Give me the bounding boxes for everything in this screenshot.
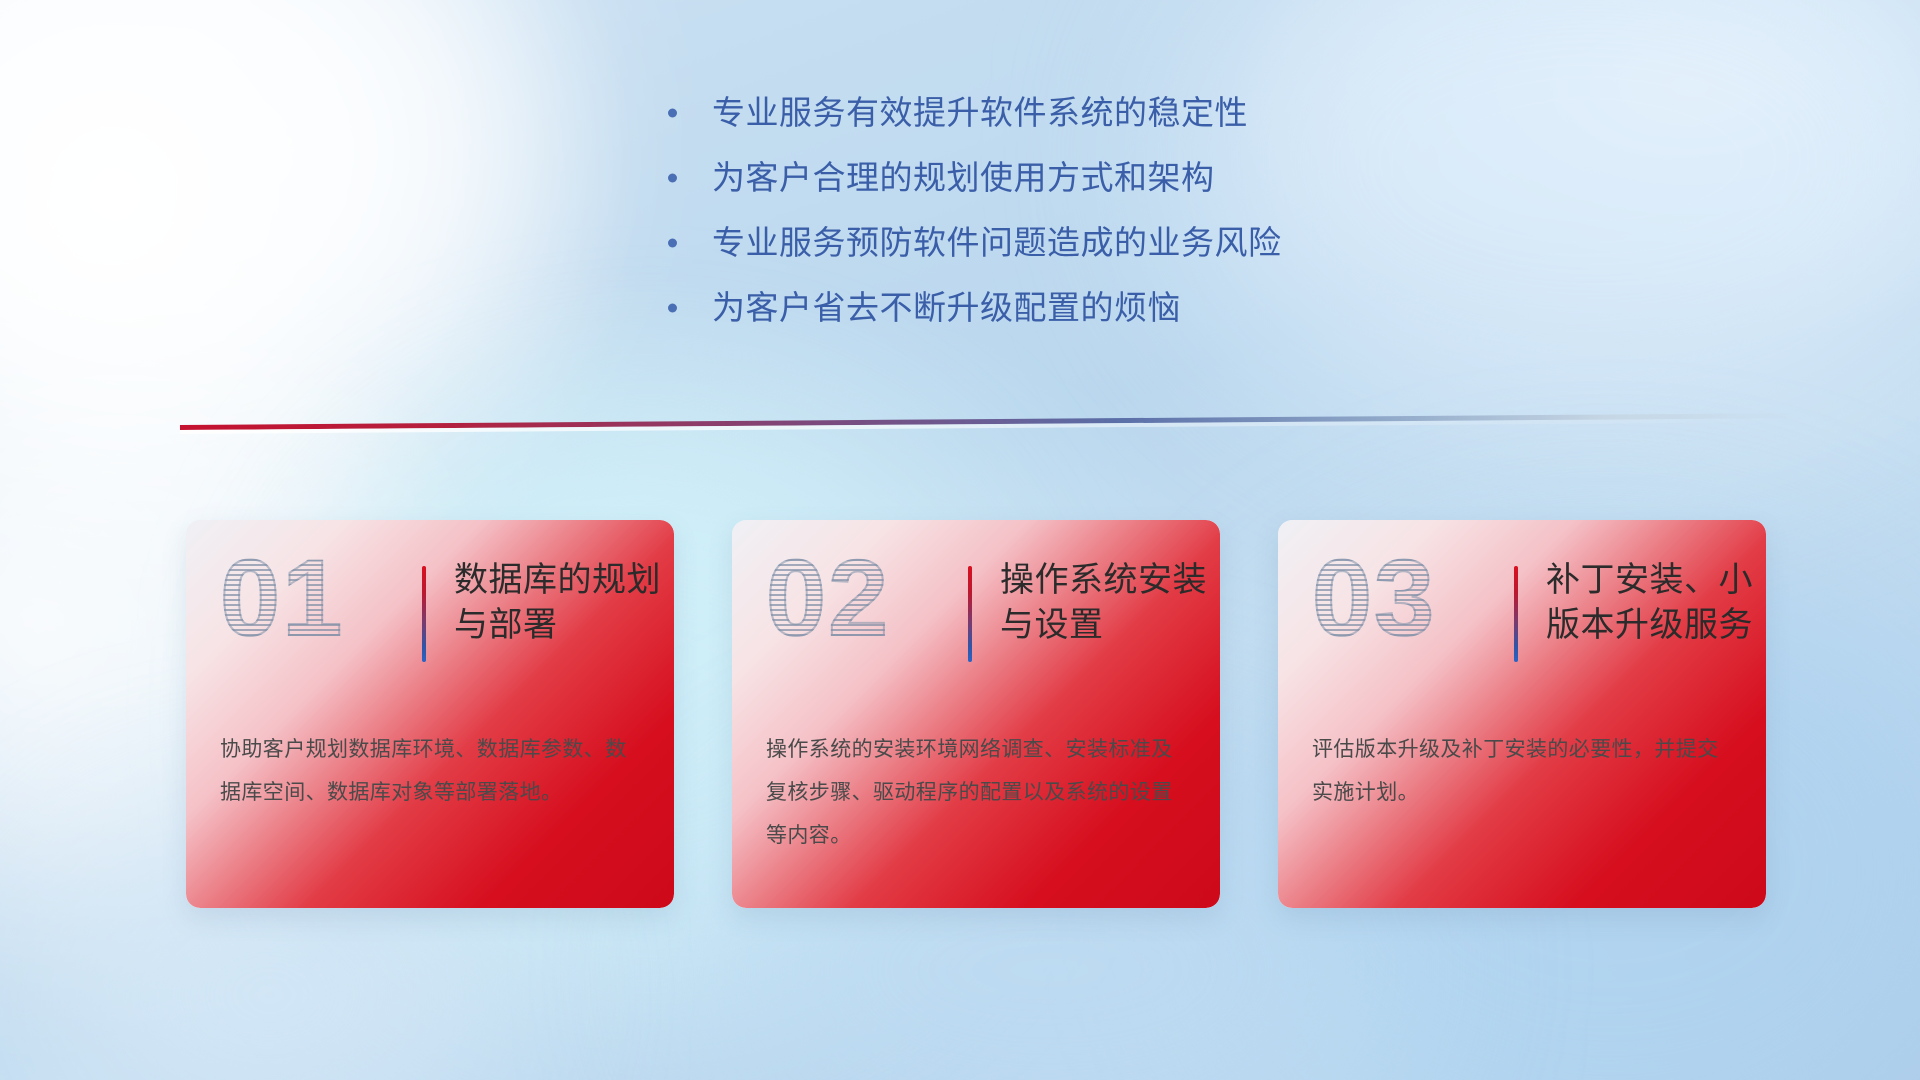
card-title: 数据库的规划与部署: [454, 558, 664, 648]
card-number: 01: [220, 544, 344, 652]
service-card[interactable]: 01 数据库的规划与部署 协助客户规划数据库环境、数据库参数、数据库空间、数据库…: [186, 520, 674, 908]
bullet-item: 为客户合理的规划使用方式和架构: [660, 161, 1480, 194]
bullet-item: 专业服务预防软件问题造成的业务风险: [660, 226, 1480, 259]
card-number: 03: [1312, 544, 1436, 652]
background-blob-1: [0, 0, 540, 460]
bullet-item-label: 专业服务有效提升软件系统的稳定性: [712, 94, 1248, 131]
card-number: 02: [766, 544, 890, 652]
bullet-item: 为客户省去不断升级配置的烦恼: [660, 291, 1480, 324]
service-card[interactable]: 03 补丁安装、小版本升级服务 评估版本升级及补丁安装的必要性，并提交实施计划。: [1278, 520, 1766, 908]
benefits-bullet-list: 专业服务有效提升软件系统的稳定性 为客户合理的规划使用方式和架构 专业服务预防软…: [660, 96, 1480, 356]
card-header: 01 数据库的规划与部署: [186, 520, 674, 716]
bullet-dot-icon: [668, 173, 677, 182]
bullet-dot-icon: [668, 108, 677, 117]
card-accent-bar: [1514, 566, 1518, 662]
card-header: 02 操作系统安装与设置: [732, 520, 1220, 716]
bullet-dot-icon: [668, 303, 677, 312]
bullet-item-label: 专业服务预防软件问题造成的业务风险: [712, 224, 1282, 261]
bullet-item-label: 为客户合理的规划使用方式和架构: [712, 159, 1215, 196]
card-accent-bar: [968, 566, 972, 662]
card-accent-bar: [422, 566, 426, 662]
card-description: 评估版本升级及补丁安装的必要性，并提交实施计划。: [1312, 728, 1732, 814]
bullet-item-label: 为客户省去不断升级配置的烦恼: [712, 289, 1181, 326]
service-card-group: 01 数据库的规划与部署 协助客户规划数据库环境、数据库参数、数据库空间、数据库…: [186, 520, 1766, 908]
bullet-dot-icon: [668, 238, 677, 247]
card-header: 03 补丁安装、小版本升级服务: [1278, 520, 1766, 716]
card-description: 协助客户规划数据库环境、数据库参数、数据库空间、数据库对象等部署落地。: [220, 728, 640, 814]
service-card[interactable]: 02 操作系统安装与设置 操作系统的安装环境网络调查、安装标准及复核步骤、驱动程…: [732, 520, 1220, 908]
card-description: 操作系统的安装环境网络调查、安装标准及复核步骤、驱动程序的配置以及系统的设置等内…: [766, 728, 1186, 857]
bullet-item: 专业服务有效提升软件系统的稳定性: [660, 96, 1480, 129]
gradient-divider: [180, 413, 1800, 435]
slide-canvas: 专业服务有效提升软件系统的稳定性 为客户合理的规划使用方式和架构 专业服务预防软…: [0, 0, 1920, 1080]
card-title: 补丁安装、小版本升级服务: [1546, 558, 1756, 648]
card-title: 操作系统安装与设置: [1000, 558, 1210, 648]
